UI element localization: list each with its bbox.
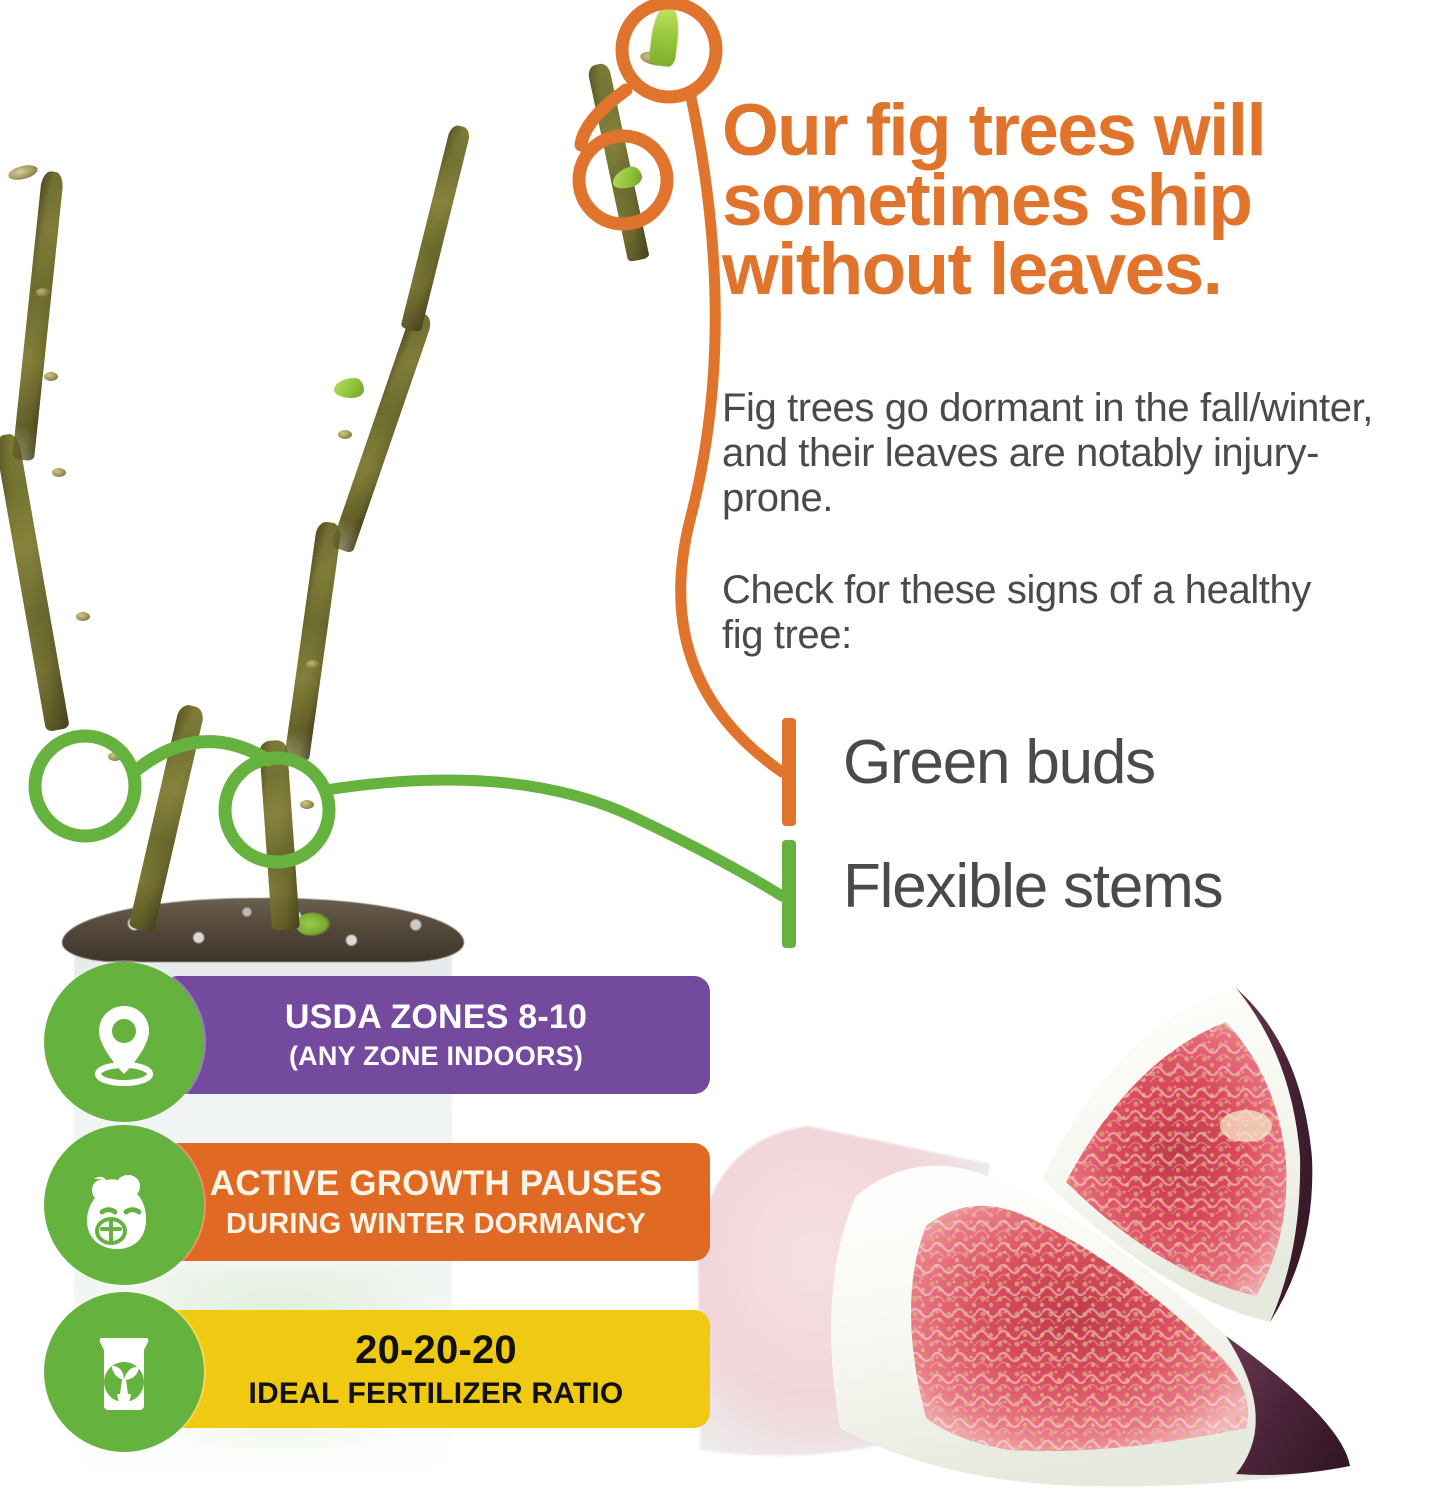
badge-subtitle: IDEAL FERTILIZER RATIO [249,1379,624,1409]
badge-title: 20-20-20 [355,1330,517,1370]
badge-active-growth: ACTIVE GROWTH PAUSES DURING WINTER DORMA… [44,1135,710,1269]
leader-cap-orange [782,718,796,826]
badge-pill: 20-20-20 IDEAL FERTILIZER RATIO [162,1310,710,1428]
badge-icon-disc [44,1292,204,1452]
map-pin-icon [76,994,172,1090]
badge-pill: USDA ZONES 8-10 (ANY ZONE INDOORS) [162,976,710,1094]
badge-subtitle: (ANY ZONE INDOORS) [289,1043,583,1070]
highlight-circle-stem-left [35,736,135,836]
badge-icon-disc [44,1125,204,1285]
badge-title: USDA ZONES 8-10 [285,1000,587,1034]
badge-pill: ACTIVE GROWTH PAUSES DURING WINTER DORMA… [162,1143,710,1261]
leader-line-green [326,780,782,896]
badge-title: ACTIVE GROWTH PAUSES [210,1166,663,1201]
callout-label-flexible-stems: Flexible stems [843,851,1222,922]
badge-icon-disc [44,962,204,1122]
page-title: Our fig trees will sometimes ship withou… [722,96,1434,305]
highlight-circle-bud-lower [579,136,667,224]
body-paragraph-2: Check for these signs of a healthy fig t… [722,568,1322,658]
leader-cap-green [782,840,796,948]
fertilizer-bag-icon [76,1324,172,1420]
badge-subtitle: DURING WINTER DORMANCY [226,1210,646,1239]
badge-usda-zones: USDA ZONES 8-10 (ANY ZONE INDOORS) [44,968,710,1102]
infographic-canvas: Our fig trees will sometimes ship withou… [0,0,1445,1489]
highlight-circle-bud-top [622,3,716,97]
callout-label-green-buds: Green buds [843,727,1155,798]
highlight-circle-stem-right [225,758,329,862]
badge-fertilizer-ratio: 20-20-20 IDEAL FERTILIZER RATIO [44,1302,710,1436]
hibernating-bear-icon [74,1155,174,1255]
body-paragraph-1: Fig trees go dormant in the fall/winter,… [722,386,1382,520]
